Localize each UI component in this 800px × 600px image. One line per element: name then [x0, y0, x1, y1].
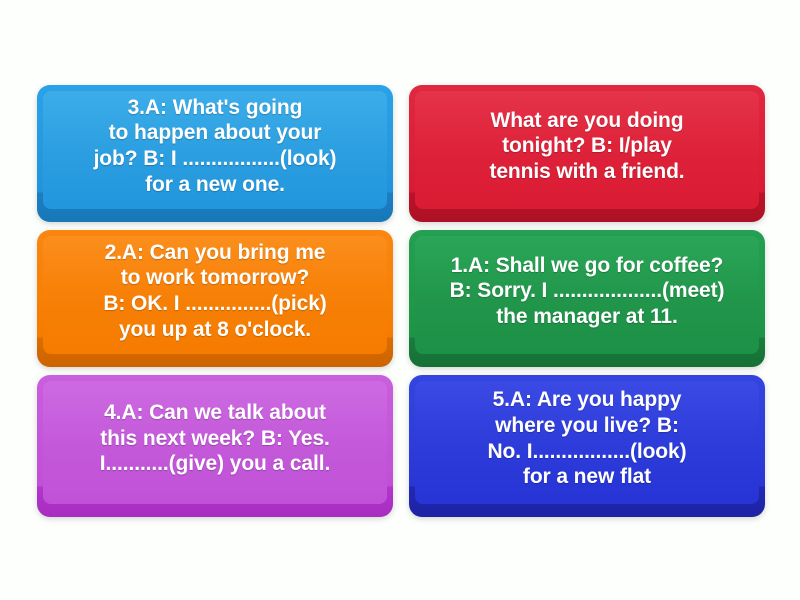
- flashcard-text: 5.A: Are you happy where you live? B: No…: [487, 387, 686, 495]
- flashcard-text: 3.A: What's going to happen about your j…: [94, 95, 337, 203]
- flashcard-5-blue[interactable]: 5.A: Are you happy where you live? B: No…: [409, 375, 765, 517]
- flashcard-text: What are you doing tonight? B: I/play te…: [489, 108, 684, 191]
- flashcard-text: 4.A: Can we talk about this next week? B…: [100, 400, 330, 483]
- flashcard-red[interactable]: What are you doing tonight? B: I/play te…: [409, 85, 765, 222]
- flashcard-4-magenta[interactable]: 4.A: Can we talk about this next week? B…: [37, 375, 393, 517]
- flashcard-3-light-blue[interactable]: 3.A: What's going to happen about your j…: [37, 85, 393, 222]
- flashcard-2-orange[interactable]: 2.A: Can you bring me to work tomorrow? …: [37, 230, 393, 367]
- flashcard-1-green[interactable]: 1.A: Shall we go for coffee? B: Sorry. I…: [409, 230, 765, 367]
- flashcard-board: 3.A: What's going to happen about your j…: [0, 0, 800, 600]
- card-grid: 3.A: What's going to happen about your j…: [37, 85, 765, 509]
- flashcard-text: 2.A: Can you bring me to work tomorrow? …: [103, 240, 326, 348]
- flashcard-text: 1.A: Shall we go for coffee? B: Sorry. I…: [450, 253, 725, 336]
